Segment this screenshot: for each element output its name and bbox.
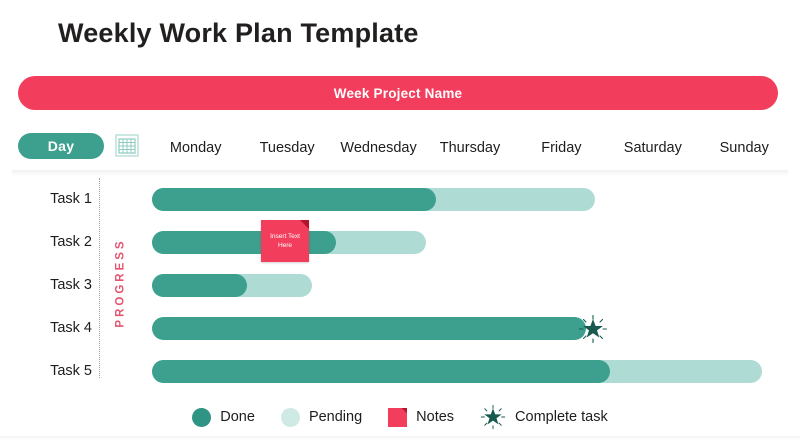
bottom-edge-shadow <box>0 436 800 440</box>
day-pill-button[interactable]: Day <box>18 133 104 159</box>
complete-task-star-icon <box>578 314 608 344</box>
note-text-line1: Insert Text <box>267 232 303 241</box>
weekday-wednesday[interactable]: Wednesday <box>333 140 424 156</box>
note-icon <box>388 408 407 427</box>
weekday-sunday[interactable]: Sunday <box>699 140 790 156</box>
task-label-5: Task 5 <box>0 350 92 392</box>
legend: Done Pending Notes <box>0 398 800 436</box>
weekday-list: Monday Tuesday Wednesday Thursday Friday… <box>150 128 790 168</box>
legend-item-pending[interactable]: Pending <box>281 408 362 427</box>
sparkle-star-icon <box>480 404 506 430</box>
weekday-saturday[interactable]: Saturday <box>607 140 698 156</box>
legend-label-pending: Pending <box>309 409 362 425</box>
legend-label-complete-task: Complete task <box>515 409 608 425</box>
circle-filled-icon <box>192 408 211 427</box>
task-label-1: Task 1 <box>0 178 92 220</box>
legend-item-done[interactable]: Done <box>192 408 255 427</box>
day-pill-label: Day <box>48 138 75 154</box>
task-bar-done-3[interactable] <box>152 274 247 297</box>
note-fold-corner <box>300 220 309 229</box>
page-title: Weekly Work Plan Template <box>58 18 419 49</box>
task-bar-done-5[interactable] <box>152 360 610 383</box>
task-label-2: Task 2 <box>0 221 92 263</box>
legend-item-complete-task[interactable]: Complete task <box>480 404 608 430</box>
weekday-friday[interactable]: Friday <box>516 140 607 156</box>
task-bar-done-4[interactable] <box>152 317 586 340</box>
slide-canvas: Weekly Work Plan Template Week Project N… <box>0 0 800 440</box>
table-row: Task 2 Insert Text Here <box>0 221 800 263</box>
table-row: Task 4 <box>0 307 800 349</box>
plan-body: PROGRESS Task 1 Task 2 Insert Text Here … <box>0 176 800 388</box>
weekday-tuesday[interactable]: Tuesday <box>241 140 332 156</box>
project-name-banner[interactable]: Week Project Name <box>18 76 778 110</box>
table-row: Task 3 <box>0 264 800 306</box>
legend-label-done: Done <box>220 409 255 425</box>
legend-item-notes[interactable]: Notes <box>388 408 454 427</box>
circle-light-icon <box>281 408 300 427</box>
note-text-line2: Here <box>275 241 295 250</box>
weekday-monday[interactable]: Monday <box>150 140 241 156</box>
note-icon-fold <box>401 408 407 414</box>
table-row: Task 5 <box>0 350 800 392</box>
task-label-3: Task 3 <box>0 264 92 306</box>
day-header-row: Day Monday Tuesday Wednesday Thursday <box>0 128 800 168</box>
table-row: Task 1 <box>0 178 800 220</box>
sticky-note[interactable]: Insert Text Here <box>261 220 309 262</box>
calendar-icon[interactable] <box>113 131 141 159</box>
project-name-text: Week Project Name <box>334 86 462 101</box>
task-bar-done-1[interactable] <box>152 188 436 211</box>
weekday-thursday[interactable]: Thursday <box>424 140 515 156</box>
legend-label-notes: Notes <box>416 409 454 425</box>
task-label-4: Task 4 <box>0 307 92 349</box>
